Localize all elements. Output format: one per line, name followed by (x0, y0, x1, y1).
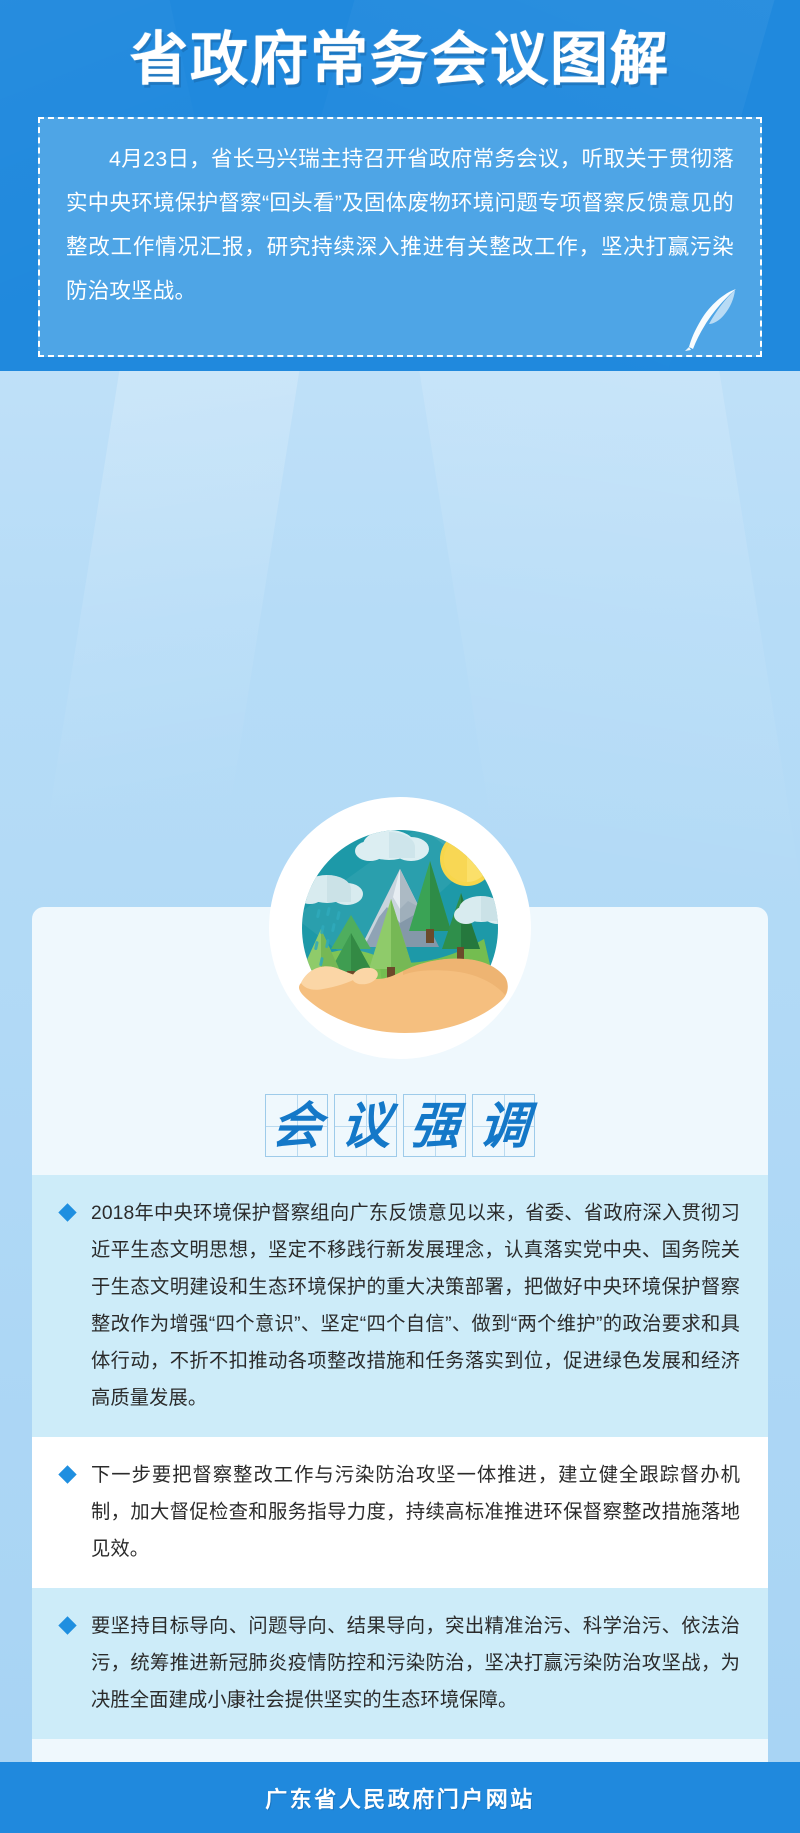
card-footer-spacer (32, 1739, 768, 1762)
header-banner: 省政府常务会议图解 4月23日，省长马兴瑞主持召开省政府常务会议，听取关于贯彻落… (0, 0, 800, 371)
section-title-grid-cell-4: 调 (472, 1094, 535, 1157)
intro-paragraph: 4月23日，省长马兴瑞主持召开省政府常务会议，听取关于贯彻落实中央环境保护督察“… (66, 137, 734, 313)
section-title-char-2: 议 (339, 1101, 392, 1151)
body-background: 会 议 强 调 2018年中央环境保护督察组向广东反馈意见以来，省委、省政府深入… (0, 371, 800, 1762)
section-title-grid-cell-2: 议 (334, 1094, 397, 1157)
section-title-grid-cell-3: 强 (403, 1094, 466, 1157)
section-title-grid-cell-1: 会 (265, 1094, 328, 1157)
bullet-item-3: 要坚持目标导向、问题导向、结果导向，突出精准治污、科学治污、依法治污，统筹推进新… (32, 1588, 768, 1739)
section-title-char-3: 强 (408, 1101, 461, 1151)
diamond-bullet-icon (58, 1465, 76, 1483)
diamond-bullet-icon (58, 1616, 76, 1634)
bullet-item-2: 下一步要把督察整改工作与污染防治攻坚一体推进，建立健全跟踪督办机制，加大督促检查… (32, 1437, 768, 1588)
infographic-page: 省政府常务会议图解 4月23日，省长马兴瑞主持召开省政府常务会议，听取关于贯彻落… (0, 0, 800, 1833)
footer-bar: 广东省人民政府门户网站 (0, 1762, 800, 1833)
section-title-huiyi-qiangdiao: 会 议 强 调 (32, 1094, 768, 1157)
bullet-text-3: 要坚持目标导向、问题导向、结果导向，突出精准治污、科学治污、依法治污，统筹推进新… (91, 1608, 740, 1719)
bullet-item-1: 2018年中央环境保护督察组向广东反馈意见以来，省委、省政府深入贯彻习近平生态文… (32, 1175, 768, 1437)
bullet-text-1: 2018年中央环境保护督察组向广东反馈意见以来，省委、省政府深入贯彻习近平生态文… (91, 1195, 740, 1417)
section-title-char-4: 调 (477, 1101, 530, 1151)
diamond-bullet-icon (58, 1203, 76, 1221)
body-sheen-decoration-a (31, 371, 300, 931)
footer-site-name: 广东省人民政府门户网站 (265, 1782, 535, 1814)
section-title-char-1: 会 (270, 1101, 323, 1151)
bullet-text-2: 下一步要把督察整改工作与污染防治攻坚一体推进，建立健全跟踪督办机制，加大督促检查… (91, 1457, 740, 1568)
page-title: 省政府常务会议图解 (0, 22, 800, 98)
intro-summary-box: 4月23日，省长马兴瑞主持召开省政府常务会议，听取关于贯彻落实中央环境保护督察“… (38, 117, 762, 357)
eco-nature-in-hand-icon (269, 797, 531, 1059)
